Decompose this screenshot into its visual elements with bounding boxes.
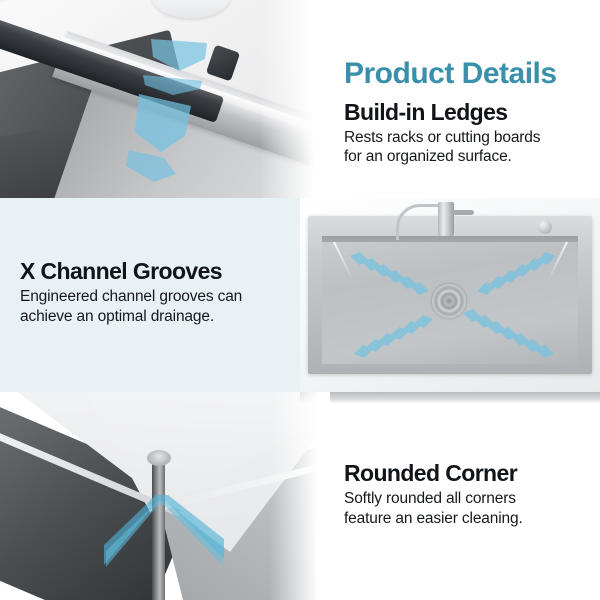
section-x-channel-grooves: X Channel Grooves Engineered channel gro…: [0, 198, 600, 392]
faucet-spout: [396, 204, 444, 240]
down-chevron-icon-3: [133, 92, 195, 154]
photo-fade-right: [270, 392, 330, 600]
photo-top-edge-strip: [300, 392, 600, 403]
section-body-rounded-corner: Softly rounded all corners feature an ea…: [344, 489, 523, 528]
section-heading-text: Build-in Ledges: [344, 99, 508, 125]
section-body-x-channel-grooves: Engineered channel grooves can achieve a…: [20, 287, 242, 326]
full-sink-photo: [300, 198, 600, 392]
section-rounded-corner: Rounded Corner Softly rounded all corner…: [0, 392, 600, 600]
chevron-chain-lower-left: [352, 304, 442, 360]
page-title: Product Details: [344, 58, 557, 90]
section-heading-x-channel-grooves: X Channel Grooves: [20, 258, 222, 284]
down-chevron-icon-4: [124, 148, 182, 184]
chevron-chain-upper-left: [348, 250, 438, 302]
rounded-corner-photo: [0, 392, 330, 600]
text-block-rounded-corner: Rounded Corner Softly rounded all corner…: [344, 460, 523, 528]
chevron-chain-upper-right: [468, 250, 558, 302]
section-heading-rounded-corner: Rounded Corner: [344, 460, 517, 486]
section-heading-text: X Channel Grooves: [20, 258, 222, 284]
section-build-in-ledges: Product Details Build-in Ledges Rests ra…: [0, 0, 600, 198]
corner-chevron-icon: [100, 495, 230, 574]
chevron-chain-lower-right: [462, 300, 556, 360]
text-block-build-in-ledges: Product Details Build-in Ledges Rests ra…: [344, 58, 557, 167]
rounded-corner-top-highlight: [147, 450, 171, 466]
down-chevron-icon-1: [147, 37, 211, 73]
faucet-body: [438, 202, 454, 236]
text-block-x-channel-grooves: X Channel Grooves Engineered channel gro…: [20, 258, 242, 326]
faucet-handle: [452, 210, 474, 215]
section-heading-build-in-ledges: Build-in Ledges: [344, 99, 508, 125]
accessory-hole: [538, 220, 552, 234]
ledge-closeup-photo: [0, 0, 330, 198]
section-heading-text: Rounded Corner: [344, 460, 517, 486]
section-body-build-in-ledges: Rests racks or cutting boards for an org…: [344, 128, 557, 167]
product-details-infographic: Product Details Build-in Ledges Rests ra…: [0, 0, 600, 600]
photo-fade-right: [260, 0, 330, 198]
